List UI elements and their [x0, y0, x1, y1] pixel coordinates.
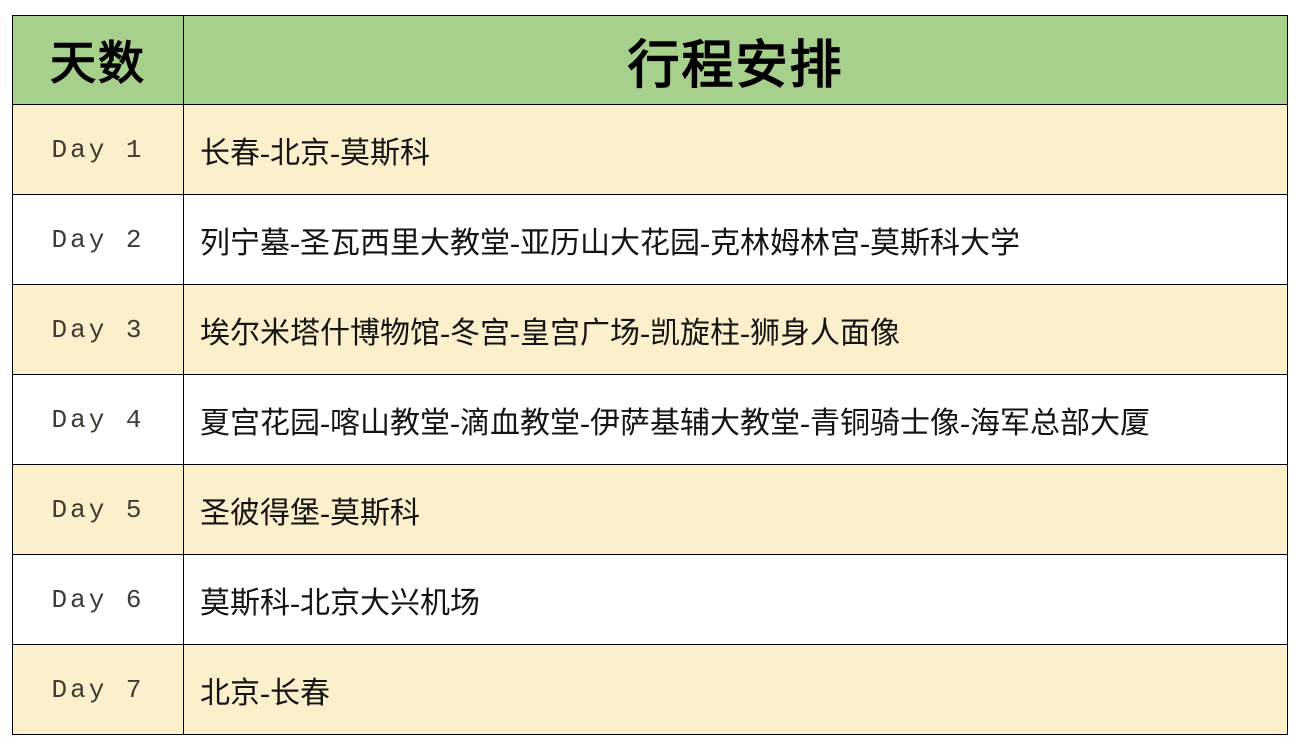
table-row: Day 2列宁墓-圣瓦西里大教堂-亚历山大花园-克林姆林宫-莫斯科大学	[13, 195, 1288, 285]
itinerary-text: 夏宫花园-喀山教堂-滴血教堂-伊萨基辅大教堂-青铜骑士像-海军总部大厦	[184, 375, 1288, 465]
day-label: Day 2	[13, 195, 184, 285]
day-label: Day 5	[13, 465, 184, 555]
day-label: Day 7	[13, 645, 184, 735]
column-header-day: 天数	[13, 16, 184, 105]
itinerary-text: 圣彼得堡-莫斯科	[184, 465, 1288, 555]
itinerary-text: 莫斯科-北京大兴机场	[184, 555, 1288, 645]
day-label: Day 3	[13, 285, 184, 375]
table-body: Day 1长春-北京-莫斯科Day 2列宁墓-圣瓦西里大教堂-亚历山大花园-克林…	[13, 105, 1288, 735]
table-row: Day 5圣彼得堡-莫斯科	[13, 465, 1288, 555]
itinerary-text: 北京-长春	[184, 645, 1288, 735]
itinerary-table: 天数 行程安排 Day 1长春-北京-莫斯科Day 2列宁墓-圣瓦西里大教堂-亚…	[12, 15, 1288, 735]
table-row: Day 7北京-长春	[13, 645, 1288, 735]
column-header-itinerary: 行程安排	[184, 16, 1288, 105]
itinerary-text: 长春-北京-莫斯科	[184, 105, 1288, 195]
table-header: 天数 行程安排	[13, 16, 1288, 105]
day-label: Day 1	[13, 105, 184, 195]
itinerary-text: 列宁墓-圣瓦西里大教堂-亚历山大花园-克林姆林宫-莫斯科大学	[184, 195, 1288, 285]
table-row: Day 3埃尔米塔什博物馆-冬宫-皇宫广场-凯旋柱-狮身人面像	[13, 285, 1288, 375]
table-row: Day 6莫斯科-北京大兴机场	[13, 555, 1288, 645]
page-root: 天数 行程安排 Day 1长春-北京-莫斯科Day 2列宁墓-圣瓦西里大教堂-亚…	[0, 0, 1300, 737]
itinerary-text: 埃尔米塔什博物馆-冬宫-皇宫广场-凯旋柱-狮身人面像	[184, 285, 1288, 375]
table-row: Day 4夏宫花园-喀山教堂-滴血教堂-伊萨基辅大教堂-青铜骑士像-海军总部大厦	[13, 375, 1288, 465]
header-row: 天数 行程安排	[13, 16, 1288, 105]
day-label: Day 6	[13, 555, 184, 645]
table-row: Day 1长春-北京-莫斯科	[13, 105, 1288, 195]
day-label: Day 4	[13, 375, 184, 465]
